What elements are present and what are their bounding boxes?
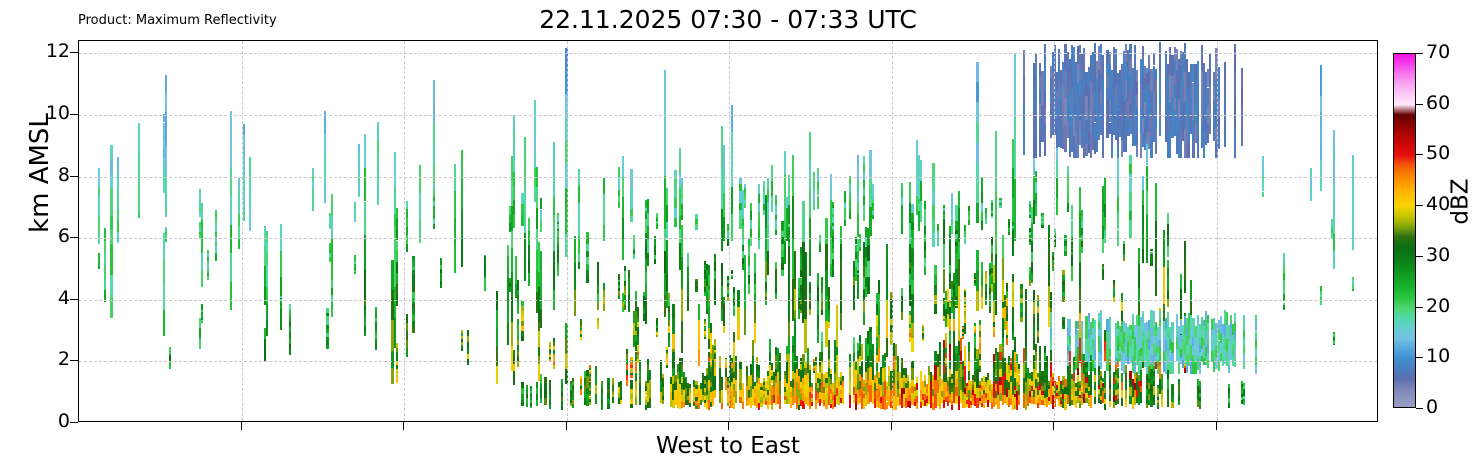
echo-cell [695, 224, 697, 229]
echo-cell [656, 325, 658, 327]
echo-cell [1104, 191, 1106, 204]
echo-cell [578, 203, 580, 220]
y-tick-mark [70, 422, 78, 423]
echo-cell [897, 364, 899, 372]
echo-cell [1081, 343, 1083, 354]
echo-cell [1283, 260, 1285, 267]
echo-cell [467, 354, 469, 360]
echo-cell [647, 213, 649, 226]
echo-cell [1006, 332, 1008, 335]
echo-cell [536, 187, 538, 208]
echo-cell [201, 220, 203, 237]
echo-cell [886, 244, 888, 263]
echo-cell [1184, 241, 1186, 254]
echo-cell [727, 280, 729, 283]
echo-cell [637, 336, 639, 341]
echo-cell [901, 212, 903, 219]
echo-cell [771, 196, 773, 212]
echo-cell [165, 183, 167, 189]
echo-cell [949, 242, 951, 250]
echo-cell [1102, 264, 1104, 266]
echo-cell [958, 225, 960, 242]
echo-cell [628, 270, 630, 278]
echo-cell [249, 182, 251, 207]
echo-cell [207, 250, 209, 254]
echo-cell [985, 208, 987, 213]
echo-cell [98, 235, 100, 245]
echo-cell [1140, 375, 1142, 381]
echo-cell [165, 128, 167, 146]
echo-cell [1262, 181, 1264, 186]
echo-cell [207, 265, 209, 269]
echo-cell [461, 209, 463, 238]
echo-cell [454, 164, 456, 191]
echo-cell [586, 238, 588, 244]
echo-cell [528, 231, 530, 245]
echo-cell [630, 189, 632, 196]
colorbar-tick-mark [1416, 104, 1423, 105]
echo-cell [811, 394, 813, 398]
echo-cell [817, 182, 819, 189]
echo-cell [626, 349, 628, 354]
echo-cell [832, 253, 834, 259]
echo-cell [1310, 196, 1312, 201]
echo-cell [744, 184, 746, 188]
echo-cell [775, 215, 777, 220]
echo-cell [1140, 392, 1142, 398]
echo-cell [1234, 331, 1236, 340]
echo-cell [538, 356, 540, 364]
echo-cell [1121, 382, 1123, 390]
echo-cell [1094, 390, 1096, 397]
echo-cell [461, 336, 463, 339]
echo-cell [326, 345, 328, 349]
echo-cell [589, 394, 591, 397]
echo-cell [1117, 389, 1119, 394]
echo-cell [1102, 275, 1104, 277]
echo-cell [1167, 283, 1169, 291]
echo-cell [433, 101, 435, 122]
product-label: Product: Maximum Reflectivity [78, 14, 277, 28]
echo-cell [771, 363, 773, 366]
echo-cell [1071, 254, 1073, 256]
echo-cell [1071, 235, 1073, 237]
echo-cell [1224, 130, 1226, 147]
echo-cell [758, 371, 760, 377]
echo-cell [911, 338, 913, 352]
echo-cell [364, 326, 366, 331]
echo-cell [406, 323, 408, 332]
echo-cell [1117, 378, 1119, 383]
echo-cell [396, 208, 398, 219]
echo-cell [1117, 164, 1119, 180]
echo-cell [674, 179, 676, 189]
echo-cell [580, 331, 582, 334]
echo-cell [565, 369, 567, 384]
echo-cell [1153, 400, 1155, 405]
echo-cell [1025, 355, 1027, 364]
echo-cell [974, 330, 976, 334]
echo-cell [1310, 168, 1312, 173]
echo-cell [513, 186, 515, 200]
echo-cell [767, 214, 769, 226]
echo-cell [976, 122, 978, 142]
echo-cell [412, 281, 414, 285]
echo-cell [1310, 178, 1312, 183]
echo-cell [289, 349, 291, 355]
echo-cell [924, 250, 926, 258]
echo-cell [530, 386, 532, 389]
echo-cell [565, 338, 567, 353]
echo-cell [1146, 238, 1148, 262]
echo-cell [1044, 124, 1046, 140]
echo-cell [607, 404, 609, 409]
echo-cell [878, 294, 880, 308]
echo-cell [1111, 143, 1113, 158]
echo-cell [1117, 373, 1119, 378]
echo-cell [911, 222, 913, 231]
echo-cell [1039, 144, 1041, 157]
echo-cell [289, 310, 291, 316]
echo-cell [595, 385, 597, 394]
echo-cell [924, 267, 926, 275]
echo-cell [857, 287, 859, 299]
echo-cell [201, 312, 203, 314]
echo-cell [597, 318, 599, 320]
echo-cell [1109, 383, 1111, 389]
echo-cell [513, 200, 515, 214]
echo-cell [1153, 53, 1155, 66]
echo-cell [517, 335, 519, 340]
echo-cell [580, 325, 582, 328]
echo-cell [867, 245, 869, 261]
colorbar-label: dBZ [1450, 127, 1473, 277]
echo-cell [809, 298, 811, 304]
echo-cell [1178, 388, 1180, 392]
echo-cell [396, 241, 398, 252]
echo-cell [744, 200, 746, 204]
echo-cell [1186, 59, 1188, 73]
echo-cell [526, 403, 528, 407]
echo-cell [654, 250, 656, 255]
echo-cell [618, 190, 620, 196]
echo-cell [540, 379, 542, 384]
echo-cell [775, 269, 777, 275]
echo-cell [979, 320, 981, 326]
echo-cell [1062, 320, 1064, 323]
echo-cell [215, 245, 217, 253]
echo-cell [1178, 379, 1180, 383]
echo-cell [758, 194, 760, 203]
echo-cell [804, 286, 806, 320]
echo-cell [1018, 369, 1020, 374]
echo-cell [809, 160, 811, 189]
echo-cell [689, 403, 691, 407]
echo-cell [890, 325, 892, 332]
echo-cell [723, 145, 725, 169]
echo-cell [433, 215, 435, 219]
echo-cell [1262, 156, 1264, 161]
echo-cell [396, 361, 398, 365]
echo-cell [484, 277, 486, 284]
echo-cell [1209, 70, 1211, 86]
echo-cell [819, 238, 821, 242]
echo-cell [354, 219, 356, 222]
echo-cell [117, 157, 119, 174]
echo-cell [979, 325, 981, 331]
echo-cell [920, 201, 922, 222]
echo-cell [1071, 246, 1073, 248]
echo-cell [540, 389, 542, 394]
echo-cell [1002, 348, 1004, 358]
echo-cell [406, 201, 408, 210]
colorbar-tick-label: 0 [1426, 398, 1438, 417]
echo-cell [1129, 155, 1131, 164]
echo-cell [1207, 353, 1209, 361]
echo-cell [326, 333, 328, 337]
echo-cell [637, 322, 639, 327]
echo-cell [230, 225, 232, 253]
echo-cell [557, 237, 559, 243]
echo-cell [630, 370, 632, 373]
echo-cell [817, 301, 819, 315]
echo-cell [513, 158, 515, 172]
echo-cell [540, 198, 542, 209]
y-tick-label: 4 [58, 289, 70, 308]
echo-cell [1125, 365, 1127, 373]
echo-cell [916, 140, 918, 149]
echo-cell [754, 253, 756, 263]
echo-cell [674, 189, 676, 199]
echo-cell [364, 300, 366, 305]
echo-cell [538, 364, 540, 372]
echo-cell [739, 369, 741, 376]
echo-cell [750, 211, 752, 220]
colorbar-tick-mark [1416, 154, 1423, 155]
echo-cell [580, 376, 582, 379]
echo-cell [331, 302, 333, 309]
echo-cell [1129, 201, 1131, 210]
echo-cell [165, 146, 167, 164]
echo-cell [714, 296, 716, 304]
echo-cell [964, 237, 966, 243]
echo-cell [974, 323, 976, 327]
echo-cell [1167, 260, 1169, 268]
echo-cell [1167, 235, 1169, 246]
echo-cell [1062, 281, 1064, 286]
echo-cell [1283, 305, 1285, 307]
echo-cell [742, 396, 744, 402]
echo-cell [517, 356, 519, 361]
echo-cell [924, 226, 926, 234]
echo-cell [1067, 203, 1069, 212]
echo-cell [1155, 117, 1157, 129]
echo-cell [561, 384, 563, 388]
echo-cell [1035, 53, 1037, 68]
echo-cell [199, 195, 201, 198]
echo-cell [911, 374, 913, 380]
echo-cell [985, 284, 987, 291]
echo-cell [1157, 397, 1159, 400]
echo-cell [1150, 260, 1152, 262]
echo-cell [557, 227, 559, 229]
echo-cell [496, 328, 498, 347]
echo-cell [949, 258, 951, 266]
echo-cell [1163, 230, 1165, 267]
echo-cell [117, 209, 119, 215]
echo-cell [612, 391, 614, 394]
echo-cell [396, 230, 398, 241]
echo-cell [633, 239, 635, 244]
echo-cell [1129, 220, 1131, 229]
echo-cell [1081, 247, 1083, 253]
echo-cell [624, 295, 626, 300]
echo-cell [1104, 382, 1106, 387]
echo-cell [201, 315, 203, 317]
echo-cell [863, 156, 865, 164]
echo-cell [1035, 68, 1037, 83]
echo-cell [1320, 303, 1322, 306]
echo-cell [1052, 373, 1054, 377]
echo-cell [775, 225, 777, 230]
echo-cell [626, 370, 628, 375]
echo-cell [1234, 313, 1236, 322]
echo-cell [530, 394, 532, 397]
echo-cell [540, 210, 542, 221]
echo-cell [1167, 213, 1169, 224]
echo-cell [976, 163, 978, 183]
echo-cell [991, 216, 993, 219]
echo-cell [911, 266, 913, 280]
echo-cell [1243, 386, 1245, 389]
echo-cell [754, 273, 756, 283]
echo-cell [406, 227, 408, 236]
echo-cell [1109, 317, 1111, 325]
echo-cell [916, 383, 918, 389]
echo-cell [857, 275, 859, 287]
echo-cell [1153, 386, 1155, 391]
echo-cell [1044, 346, 1046, 353]
echo-cell [1069, 319, 1071, 327]
echo-cell [528, 245, 530, 259]
echo-cell [412, 321, 414, 327]
echo-cell [742, 226, 744, 232]
echo-cell [169, 362, 171, 369]
echo-cell [964, 289, 966, 291]
echo-cell [565, 164, 567, 187]
echo-cell [666, 240, 668, 257]
echo-cell [924, 201, 926, 209]
echo-cell [586, 232, 588, 238]
echo-cell [817, 315, 819, 329]
echo-cell [821, 277, 823, 283]
echo-cell [1199, 367, 1201, 374]
echo-cell [1041, 221, 1043, 223]
echo-cell [934, 304, 936, 314]
echo-cell [924, 209, 926, 217]
echo-cell [1006, 327, 1008, 330]
echo-cell [289, 344, 291, 350]
echo-cell [1283, 253, 1285, 260]
echo-cell [767, 226, 769, 238]
echo-cell [521, 388, 523, 391]
echo-cell [1044, 60, 1046, 76]
echo-cell [1333, 199, 1335, 216]
echo-cell [433, 80, 435, 101]
echo-cell [375, 315, 377, 318]
echo-cell [639, 388, 641, 394]
echo-cell [809, 376, 811, 381]
echo-cell [727, 224, 729, 232]
echo-cell [911, 230, 913, 239]
echo-cell [828, 340, 830, 349]
echo-cell [364, 235, 366, 269]
echo-cell [326, 329, 328, 333]
echo-cell [1129, 44, 1131, 59]
echo-cell [1140, 386, 1142, 392]
echo-cell [630, 357, 632, 360]
y-tick-label: 8 [58, 166, 70, 185]
echo-cell [872, 211, 874, 215]
echo-cell [1081, 235, 1083, 241]
echo-cell [620, 396, 622, 400]
echo-cell [1121, 293, 1123, 302]
echo-cell [1140, 398, 1142, 404]
echo-cell [1134, 45, 1136, 70]
echo-cell [1037, 313, 1039, 319]
echo-cell [668, 340, 670, 347]
echo-cell [775, 287, 777, 293]
echo-cell [1094, 320, 1096, 330]
echo-cell [704, 331, 706, 334]
echo-cell [637, 327, 639, 332]
echo-cell [1171, 342, 1173, 352]
echo-cell [1071, 242, 1073, 244]
echo-cell [238, 238, 240, 250]
echo-cell [861, 361, 863, 377]
echo-cell [849, 367, 851, 381]
echo-cell [1123, 241, 1125, 244]
echo-cell [394, 152, 396, 159]
echo-cell [396, 251, 398, 262]
echo-cell [1052, 252, 1054, 256]
echo-cell [607, 388, 609, 393]
echo-cell [238, 202, 240, 214]
echo-cell [165, 195, 167, 201]
echo-cell [534, 100, 536, 117]
echo-cell [544, 398, 546, 405]
echo-cell [1159, 74, 1161, 90]
echo-cell [280, 307, 282, 308]
echo-cell [230, 253, 232, 281]
echo-cell [981, 203, 983, 212]
echo-cell [521, 331, 523, 336]
echo-cell [618, 280, 620, 283]
echo-cell [603, 297, 605, 304]
echo-cell [1209, 102, 1211, 118]
echo-cell [622, 156, 624, 177]
echo-cell [1109, 359, 1111, 365]
colorbar-tick-mark [1416, 205, 1423, 206]
echo-cell [750, 229, 752, 238]
echo-cell [945, 353, 947, 358]
echo-cell [968, 211, 970, 216]
echo-cell [1117, 230, 1119, 246]
echo-cell [788, 263, 790, 292]
echo-cell [1008, 219, 1010, 222]
echo-cell [744, 255, 746, 282]
echo-cell [991, 208, 993, 211]
